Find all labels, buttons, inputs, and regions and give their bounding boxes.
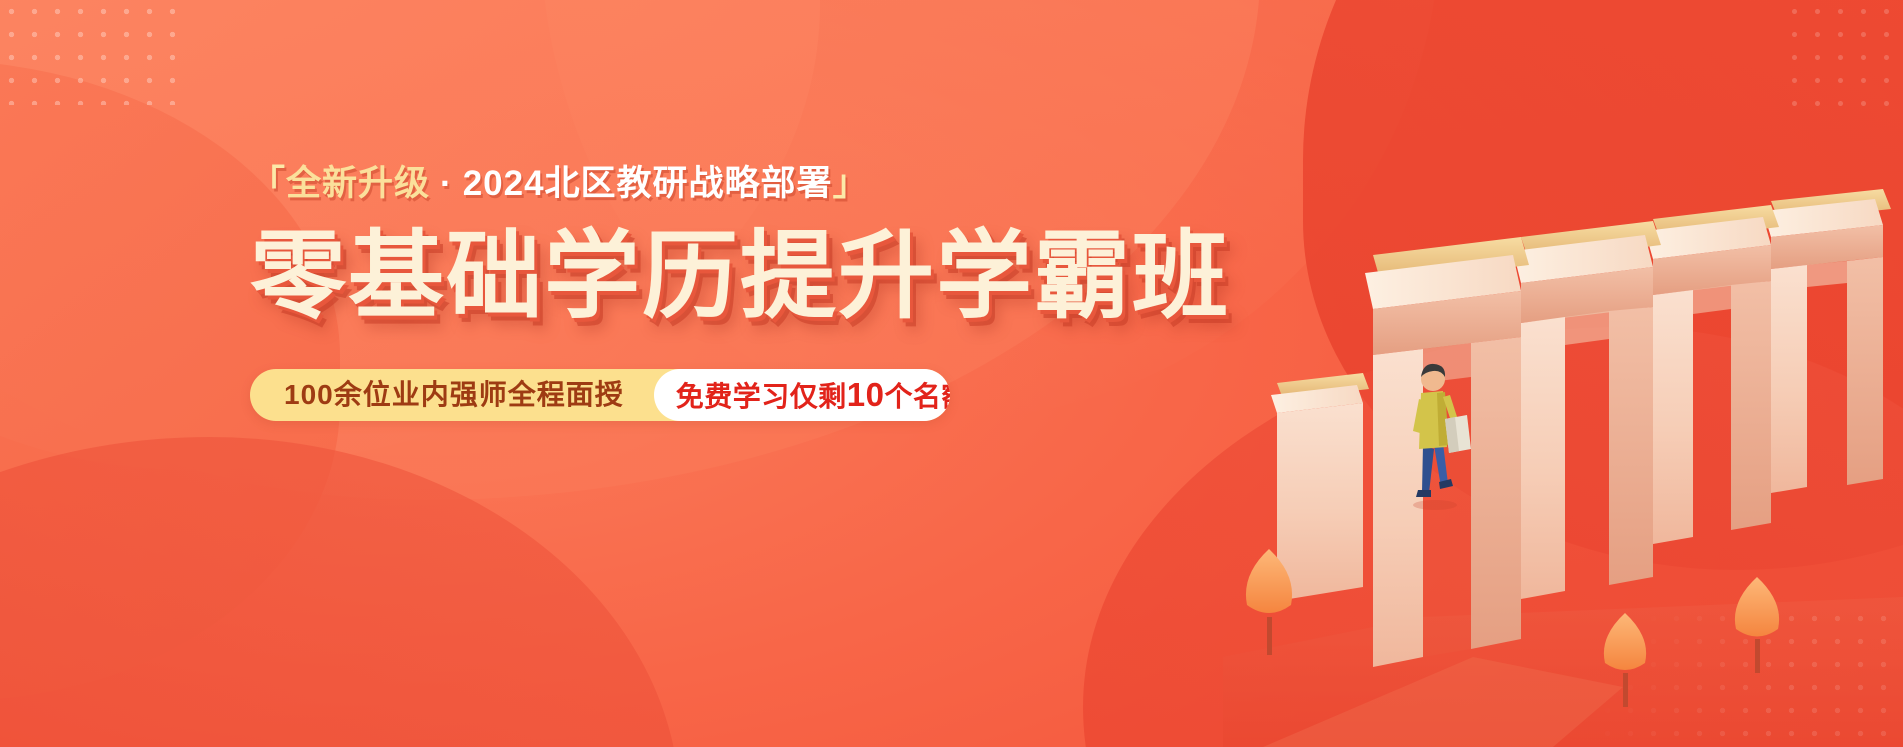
dot-pattern-top-right bbox=[1783, 0, 1903, 120]
pill-free-prefix: 免费学习仅剩 bbox=[676, 375, 847, 415]
page-title: 零基础学历提升学霸班 bbox=[250, 227, 1010, 327]
pill-free-seats[interactable]: 免费学习仅剩10个名额！ bbox=[654, 369, 950, 421]
subtitle-separator: · bbox=[430, 164, 463, 203]
pill-free-count: 10 bbox=[847, 376, 885, 414]
pill-free-suffix: 个名额！ bbox=[884, 375, 950, 415]
promo-banner: 「全新升级·2024北区教研战略部署」 零基础学历提升学霸班 100余位业内强师… bbox=[0, 0, 1903, 747]
pill-instructors-label: 100余位业内强师全程面授 bbox=[250, 369, 654, 421]
book-arch-2 bbox=[1513, 221, 1661, 599]
book-arches-illustration bbox=[1223, 187, 1903, 747]
bracket-open: 「 bbox=[250, 164, 286, 203]
promo-pill-group: 100余位业内强师全程面授 免费学习仅剩10个名额！ bbox=[250, 369, 950, 421]
subtitle-highlight: 全新升级 bbox=[286, 164, 430, 203]
background-blob-bottom-left bbox=[0, 437, 680, 747]
headline-copy: 「全新升级·2024北区教研战略部署」 零基础学历提升学霸班 100余位业内强师… bbox=[250, 150, 1010, 421]
subtitle-line: 「全新升级·2024北区教研战略部署」 bbox=[250, 150, 1010, 201]
dot-pattern-top-left bbox=[0, 0, 175, 105]
book-arch-4 bbox=[1763, 189, 1891, 493]
subtitle-main: 2024北区教研战略部署 bbox=[463, 164, 833, 203]
book-arch-1 bbox=[1365, 237, 1529, 667]
book-arch-3 bbox=[1645, 205, 1779, 544]
book-block-front bbox=[1271, 373, 1369, 601]
bracket-close: 」 bbox=[833, 164, 869, 203]
